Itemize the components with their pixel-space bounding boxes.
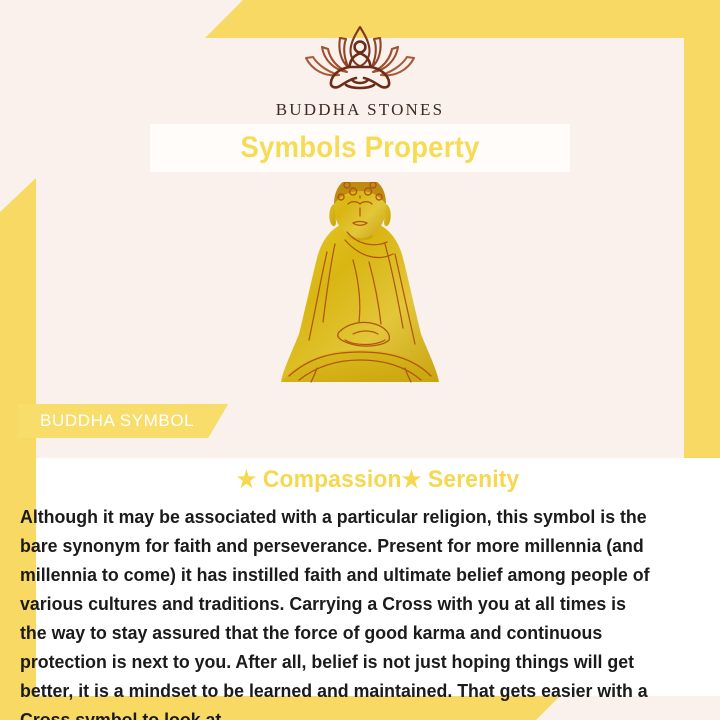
star-icon-one: ★ [237,466,257,492]
category-label: BUDDHA SYMBOL [40,411,194,431]
page-title: Symbols Property [240,131,479,165]
content-panel: ★ Compassion★ Serenity Although it may b… [36,458,720,696]
subtitle-term-serenity: Serenity [428,466,519,493]
star-icon-two: ★ [402,466,422,492]
statue-illustration-wrap [0,180,720,400]
brand-name: BUDDHA STONES [0,100,720,120]
title-banner: Symbols Property [150,124,570,172]
content-paragraph: Although it may be associated with a par… [20,494,669,720]
lotus-meditation-icon [294,22,426,94]
subtitle-term-compassion: Compassion [263,466,402,493]
category-ribbon: BUDDHA SYMBOL [18,404,228,438]
brand-header: BUDDHA STONES [0,22,720,120]
content-subtitle: ★ Compassion★ Serenity [53,458,703,494]
poster-root: BUDDHA STONES Symbols Property [0,0,720,720]
golden-buddha-statue-icon [265,182,455,400]
